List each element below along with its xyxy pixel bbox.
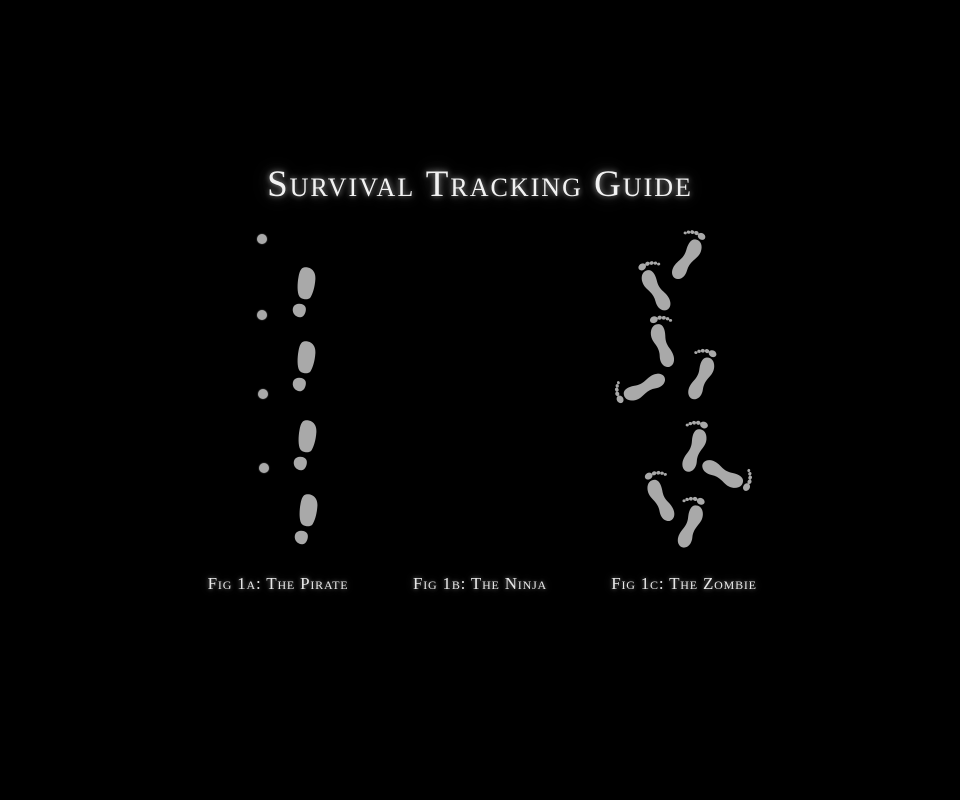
peg-leg-mark bbox=[259, 463, 269, 473]
bare-footprint-icon bbox=[683, 346, 720, 406]
bare-footprint-icon bbox=[646, 314, 678, 372]
boot-print-icon bbox=[291, 417, 324, 478]
bare-footprint-icon bbox=[694, 455, 755, 496]
figure-zombie bbox=[548, 215, 848, 555]
track-area-zombie bbox=[548, 215, 848, 555]
bare-footprint-icon bbox=[673, 494, 709, 553]
poster-canvas: Survival Tracking Guide Fig 1a: The Pira… bbox=[0, 0, 960, 800]
peg-leg-mark bbox=[257, 310, 267, 320]
boot-print-icon bbox=[290, 338, 323, 399]
bare-footprint-icon bbox=[640, 468, 679, 529]
page-title: Survival Tracking Guide bbox=[0, 163, 960, 206]
peg-leg-mark bbox=[257, 234, 267, 244]
boot-print-icon bbox=[290, 264, 323, 325]
caption-zombie: Fig 1c: The Zombie bbox=[534, 574, 834, 594]
bare-footprint-icon bbox=[612, 368, 673, 407]
peg-leg-mark bbox=[258, 389, 268, 399]
boot-print-icon bbox=[292, 491, 325, 552]
bare-footprint-icon bbox=[666, 226, 710, 288]
